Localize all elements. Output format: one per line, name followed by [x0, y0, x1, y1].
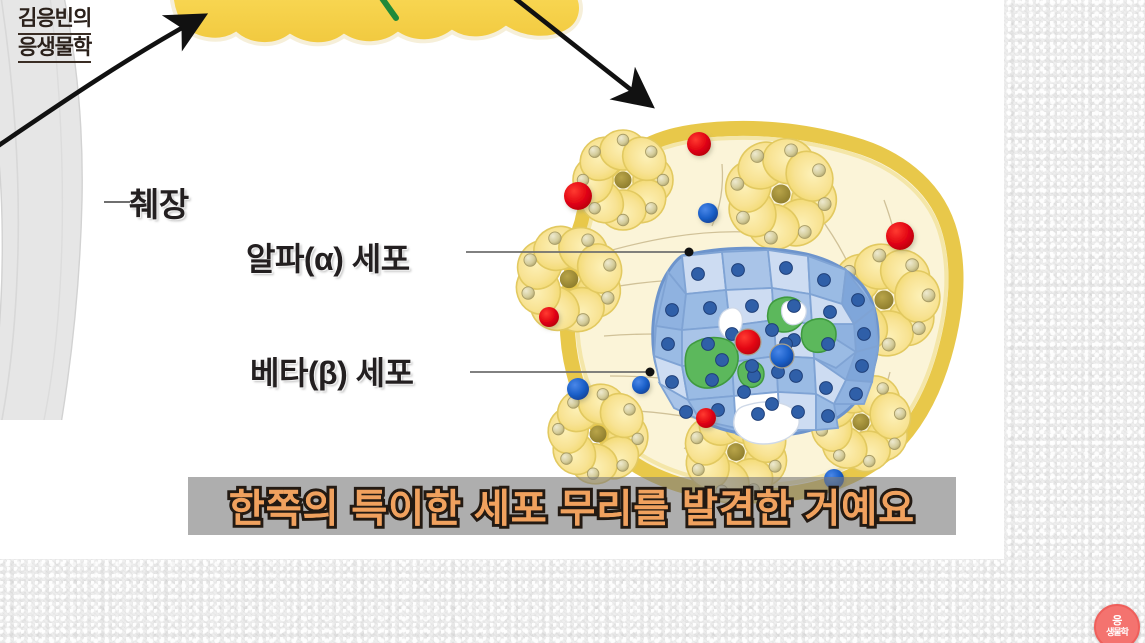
watermark-line-1: 김응빈의 [18, 6, 91, 35]
cell-nucleus [738, 386, 751, 399]
cell-nucleus [822, 410, 835, 423]
cell-nucleus [818, 274, 831, 287]
cell-nucleus [856, 360, 869, 373]
label-alpha-cell: 알파(α) 세포 [246, 234, 410, 280]
cell-nucleus [716, 354, 729, 367]
label-beta-cell: 베타(β) 세포 [250, 348, 414, 394]
cell-nucleus [692, 268, 705, 281]
cell-nucleus [666, 304, 679, 317]
cell-nucleus [746, 300, 759, 313]
screenshot-root: 췌장 알파(α) 세포 베타(β) 세포 김응빈의 응생물학 한쪽의 특이한 세… [0, 0, 1145, 643]
cell-nucleus [858, 328, 871, 341]
cell-nucleus [662, 338, 675, 351]
pancreatic-islet-diagram [486, 104, 1004, 514]
cell-nucleus [732, 264, 745, 277]
slide-canvas: 췌장 알파(α) 세포 베타(β) 세포 김응빈의 응생물학 [0, 0, 1004, 559]
label-pancreas: 췌장 [129, 178, 189, 226]
blue-blood-vessel [567, 378, 589, 400]
cell-nucleus [702, 338, 715, 351]
cell-nucleus [766, 398, 779, 411]
cell-nucleus [766, 324, 779, 337]
cell-nucleus [852, 294, 865, 307]
pancreas-organ [150, 0, 620, 64]
cell-nucleus [752, 408, 765, 421]
central-red-capillary [735, 329, 761, 355]
cell-nucleus [824, 306, 837, 319]
red-blood-vessel [886, 222, 914, 250]
channel-logo-badge[interactable]: 응 생물학 [1094, 604, 1140, 643]
cell-nucleus [790, 370, 803, 383]
subtitle-text: 한쪽의 특이한 세포 무리를 발견한 거예요 [190, 479, 954, 533]
cell-nucleus [788, 300, 801, 313]
cell-nucleus [780, 262, 793, 275]
cell-nucleus [746, 360, 759, 373]
cell-nucleus [680, 406, 693, 419]
central-blue-capillary [770, 344, 794, 368]
logo-line-2: 생물학 [1106, 627, 1128, 638]
channel-watermark: 김응빈의 응생물학 [18, 6, 91, 63]
cell-nucleus [822, 338, 835, 351]
blue-blood-vessel [632, 376, 650, 394]
cell-nucleus [820, 382, 833, 395]
red-blood-vessel [564, 182, 592, 210]
logo-line-1: 응 [1112, 616, 1122, 627]
red-blood-vessel [696, 408, 716, 428]
watermark-line-2: 응생물학 [18, 35, 91, 64]
cell-nucleus [666, 376, 679, 389]
blue-blood-vessel [698, 203, 718, 223]
cell-nucleus [706, 374, 719, 387]
cell-nucleus [704, 302, 717, 315]
red-blood-vessel [539, 307, 559, 327]
cell-nucleus [792, 406, 805, 419]
red-blood-vessel [687, 132, 711, 156]
leader-pancreas [104, 201, 130, 203]
islet-of-langerhans [653, 248, 878, 444]
cell-nucleus [850, 388, 863, 401]
